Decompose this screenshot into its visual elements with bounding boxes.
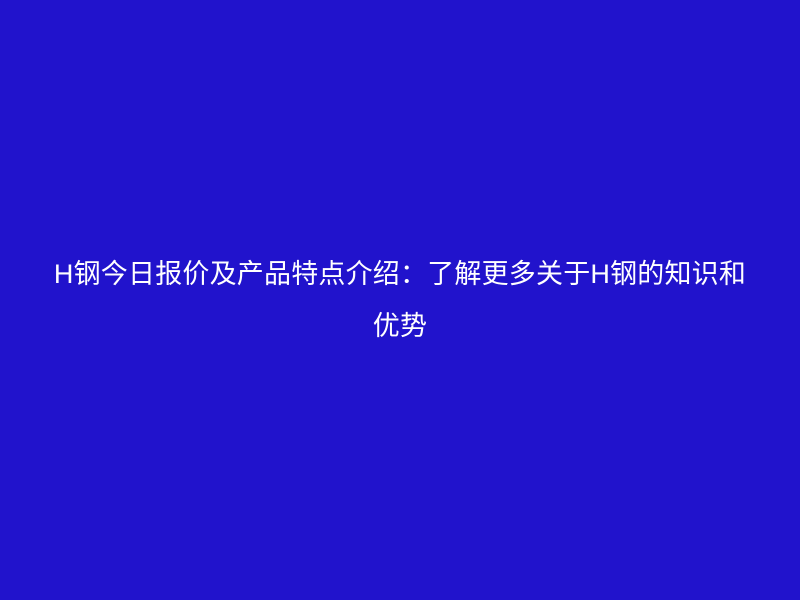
title-block: H钢今日报价及产品特点介绍：了解更多关于H钢的知识和优势 <box>44 248 756 352</box>
page-title: H钢今日报价及产品特点介绍：了解更多关于H钢的知识和优势 <box>44 248 756 352</box>
title-card: H钢今日报价及产品特点介绍：了解更多关于H钢的知识和优势 <box>0 0 800 600</box>
